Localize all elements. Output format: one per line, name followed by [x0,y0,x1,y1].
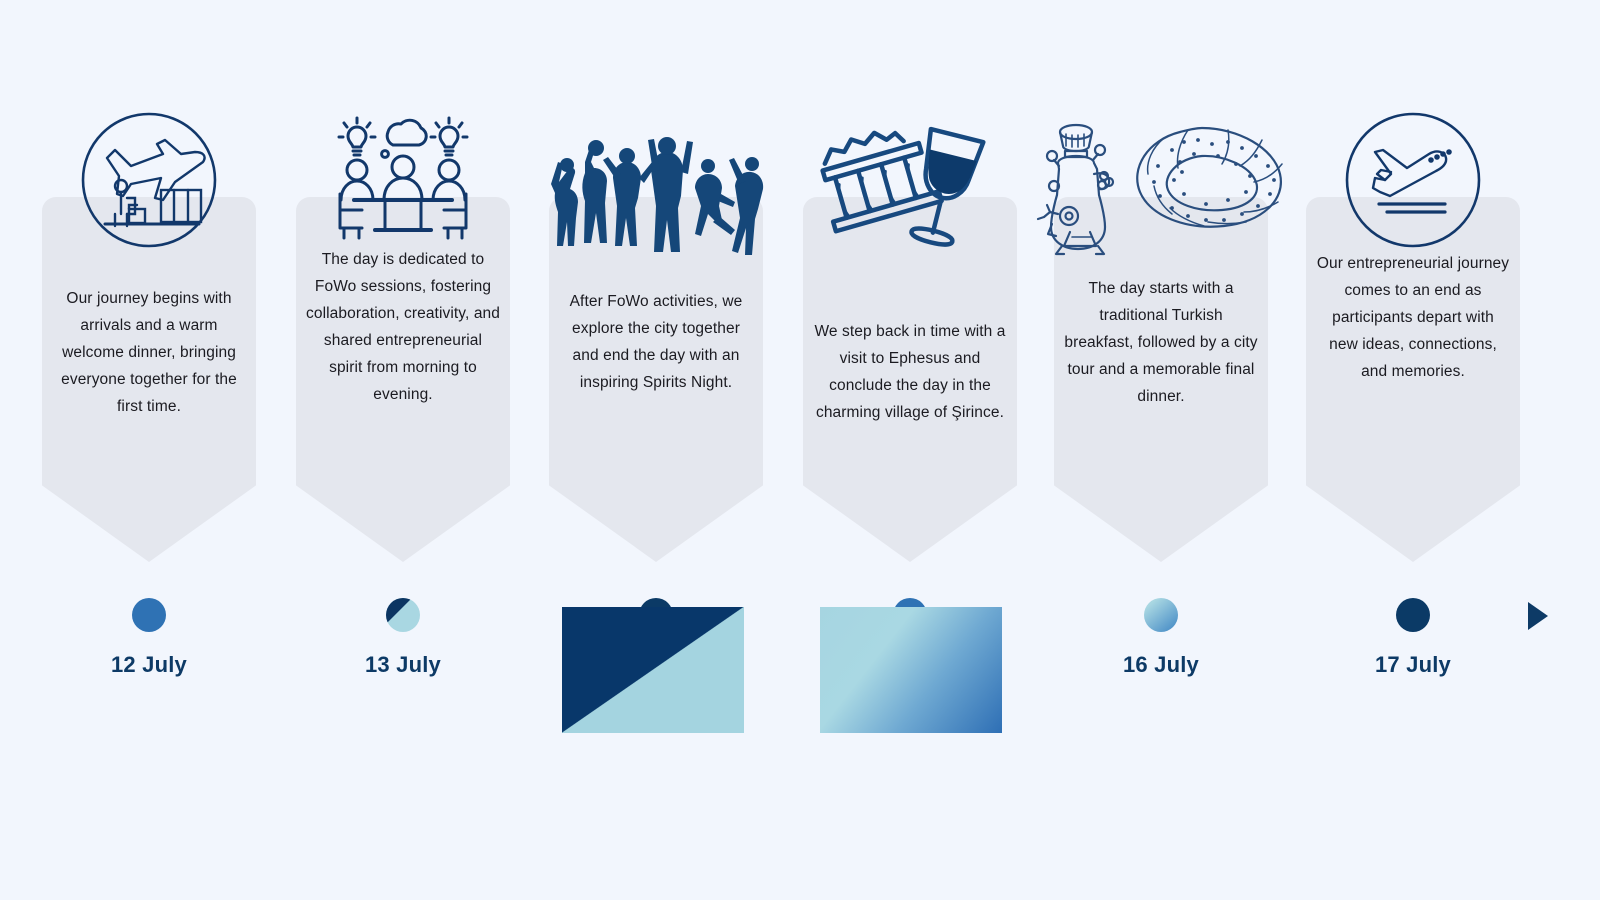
day-card-body-2: The day is dedicated to FoWo sessions, f… [306,246,500,408]
day-card-body-1: Our journey begins with arrivals and a w… [52,285,246,420]
day-card-body-4: We step back in time with a visit to Eph… [813,318,1007,426]
timeline-date-6: 17 July [1306,652,1520,678]
timeline-day-1[interactable]: Our journey begins with arrivals and a w… [42,100,256,700]
timeline-dot-2[interactable] [386,598,420,632]
timeline-date-2: 13 July [296,652,510,678]
timeline-container: Our journey begins with arrivals and a w… [0,0,1600,900]
next-arrow-icon[interactable] [1528,602,1548,630]
timeline-date-1: 12 July [42,652,256,678]
day-card-body-5: The day starts with a traditional Turkis… [1064,275,1258,410]
day-card-body-6: Our entrepreneurial journey comes to an … [1316,250,1510,385]
timeline-dot-1[interactable] [132,598,166,632]
timeline-day-2[interactable]: The day is dedicated to FoWo sessions, f… [296,100,510,700]
day-card-body-3: After FoWo activities, we explore the ci… [559,288,753,396]
timeline-dot-5[interactable] [1144,598,1178,632]
timeline-day-6[interactable]: Our entrepreneurial journey comes to an … [1306,100,1520,700]
timeline-day-5[interactable]: The day starts with a traditional Turkis… [1054,100,1268,700]
timeline-dot-6[interactable] [1396,598,1430,632]
image-placeholder-diagonal-gradient[interactable] [820,607,1002,733]
timeline-date-5: 16 July [1054,652,1268,678]
image-placeholder-diagonal-split[interactable] [562,607,744,733]
